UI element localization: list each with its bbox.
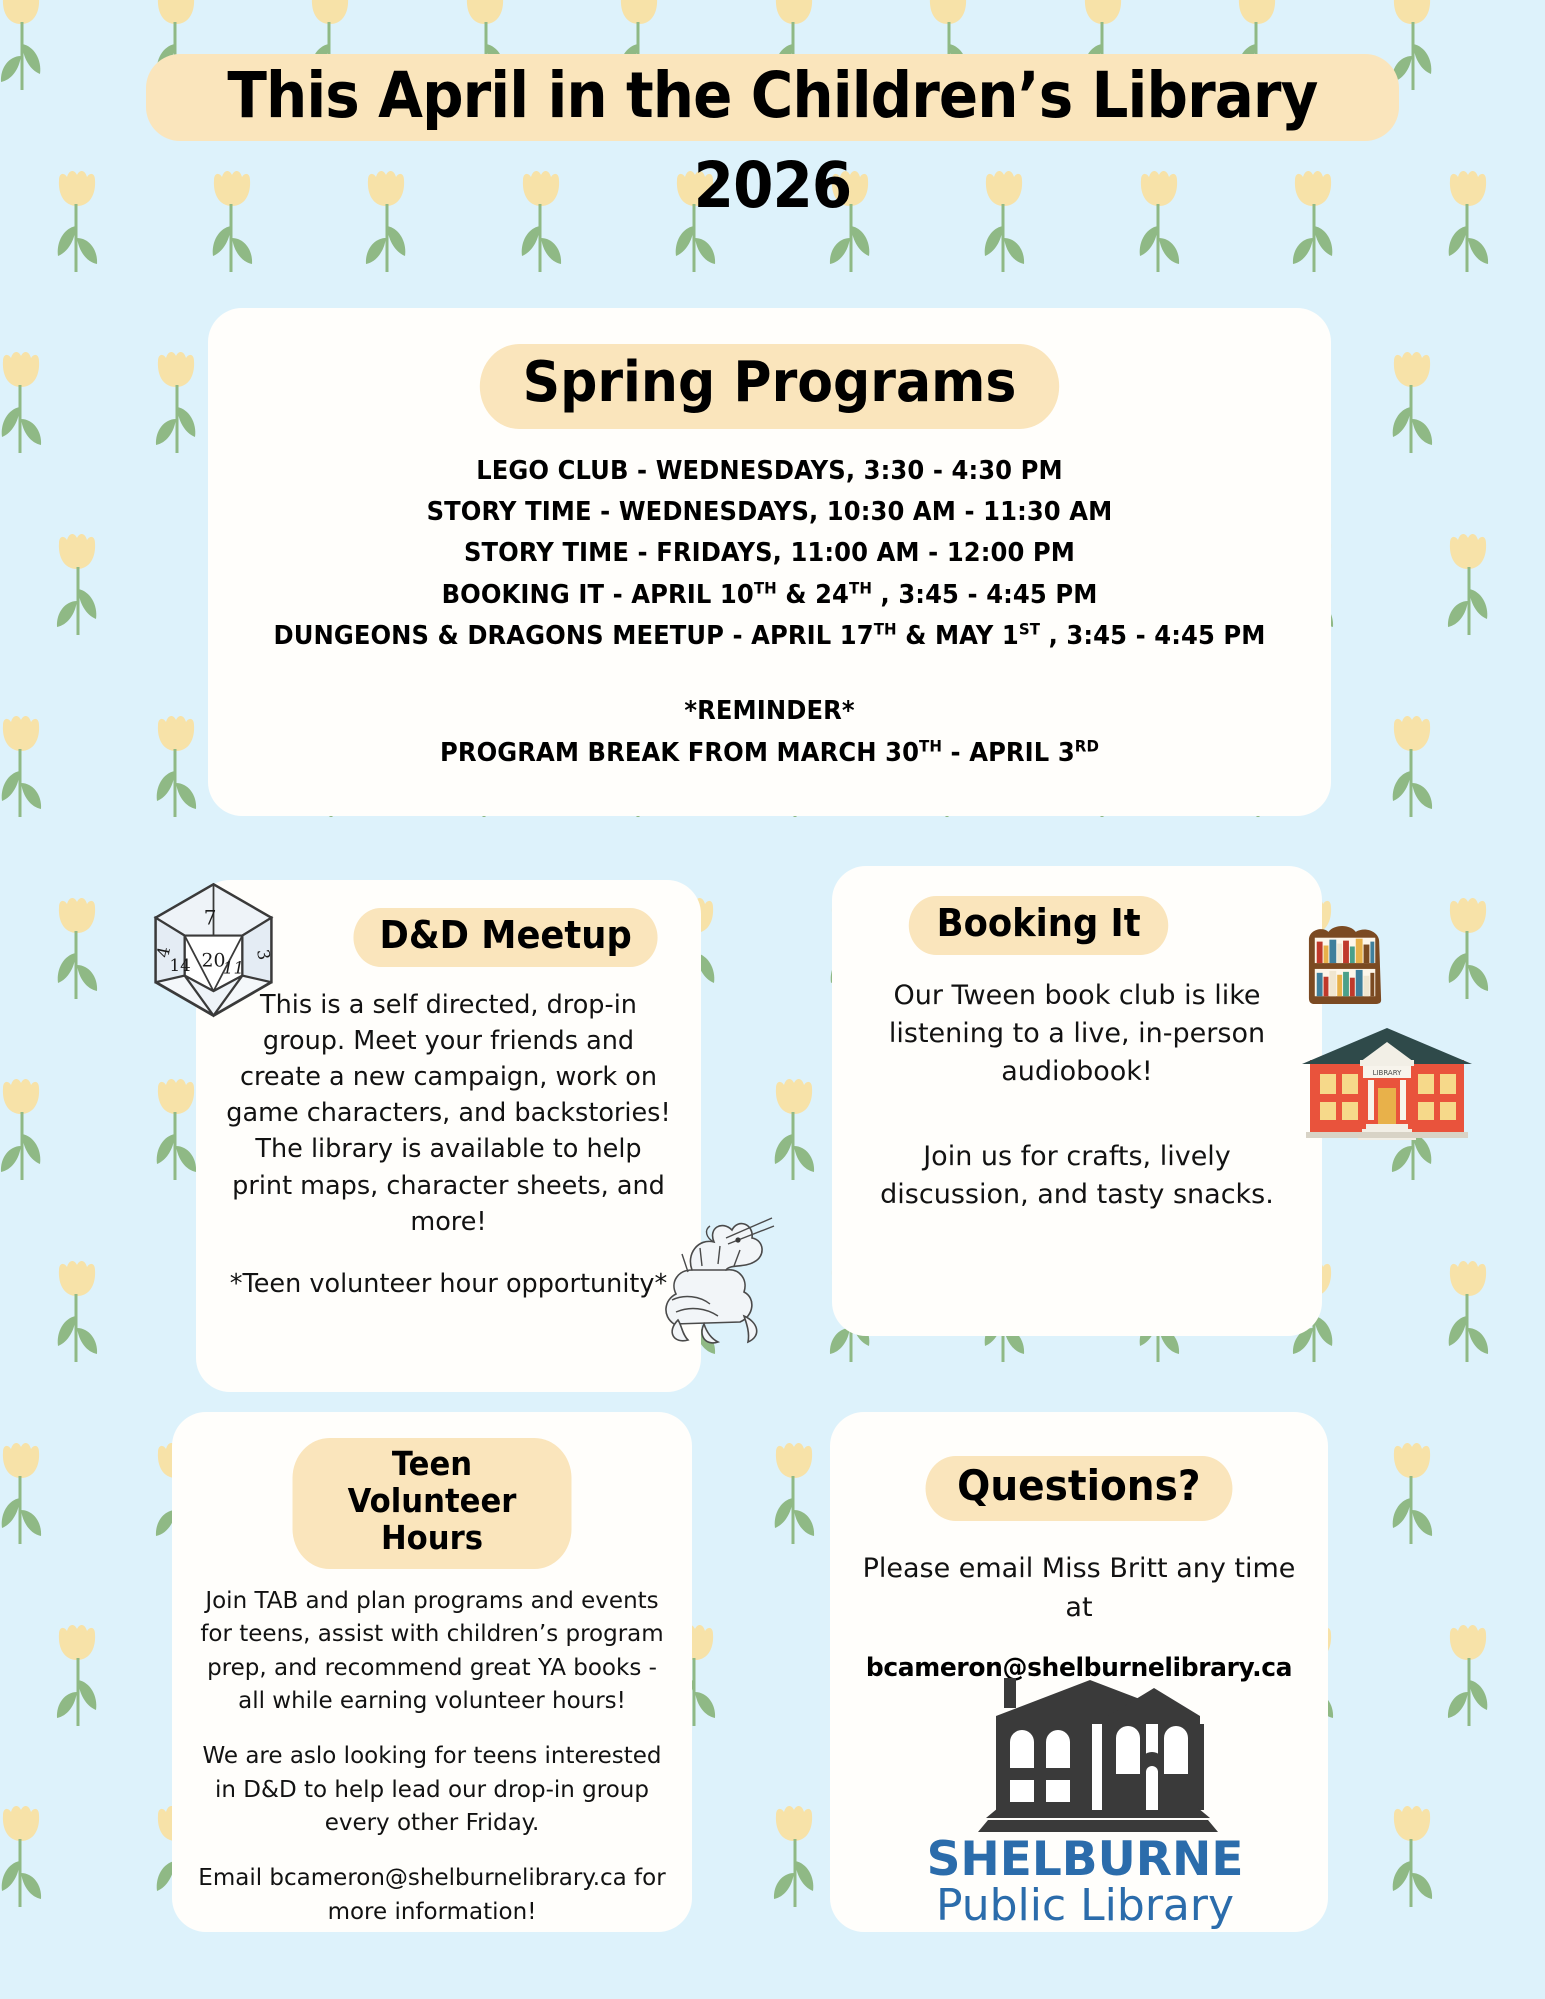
teen-paragraph-1: Join TAB and plan programs and events fo… (196, 1585, 668, 1718)
title-line-2: 2026 (62, 149, 1483, 222)
program-line-text: STORY TIME - WEDNESDAYS, 10:30 AM - 11:3… (427, 497, 1113, 527)
bookshelf-icon (1296, 926, 1396, 1006)
reminder-title: *REMINDER* (236, 691, 1303, 732)
booking-paragraph-2: Join us for crafts, lively discussion, a… (862, 1138, 1292, 1215)
logo-text-shelburne: SHELBURNE (920, 1836, 1250, 1883)
title-line-1: This April in the Children’s Library (227, 64, 1317, 127)
teen-paragraph-2: We are aslo looking for teens interested… (196, 1740, 668, 1840)
teen-heading-line-2: Hours (381, 1518, 483, 1557)
title-highlight: This April in the Children’s Library (146, 54, 1399, 141)
spring-programs-heading-row: Spring Programs (208, 344, 1331, 429)
booking-it-heading-row: Booking It (832, 866, 1322, 955)
reminder-text: PROGRAM BREAK FROM MARCH 30 (440, 738, 919, 768)
questions-heading-row: Questions? (830, 1412, 1328, 1521)
teen-heading-line-1: Teen Volunteer (348, 1444, 517, 1520)
program-line-dnd-meetup: DUNGEONS & DRAGONS MEETUP - APRIL 17TH &… (236, 616, 1303, 657)
program-line-story-time-fridays: STORY TIME - FRIDAYS, 11:00 AM - 12:00 P… (236, 533, 1303, 574)
ordinal-suffix: TH (919, 736, 942, 755)
booking-paragraph-1: Our Tween book club is like listening to… (862, 977, 1292, 1092)
questions-body: Please email Miss Britt any time at (830, 1521, 1328, 1627)
teen-volunteer-body: Join TAB and plan programs and events fo… (172, 1569, 692, 1929)
questions-paragraph: Please email Miss Britt any time at (856, 1549, 1302, 1627)
ordinal-suffix: TH (874, 619, 897, 638)
page-title: This April in the Children’s Library 202… (0, 54, 1545, 222)
logo-text-public-library: Public Library (920, 1883, 1250, 1930)
program-line-booking-it: BOOKING IT - APRIL 10TH & 24TH , 3:45 - … (236, 575, 1303, 616)
booking-it-card: Booking It Our Tween book club is like l… (832, 866, 1322, 1336)
dice-face-14: 14 (170, 956, 191, 975)
teen-volunteer-heading-row: Teen Volunteer Hours (172, 1412, 692, 1569)
booking-it-heading: Booking It (909, 896, 1169, 955)
spring-programs-card: Spring Programs LEGO CLUB - WEDNESDAYS, … (208, 308, 1331, 816)
ordinal-suffix: TH (754, 578, 777, 597)
dice-face-7: 7 (204, 905, 217, 929)
program-line-text: STORY TIME - FRIDAYS, 11:00 AM - 12:00 P… (464, 538, 1075, 568)
ordinal-suffix: RD (1075, 736, 1099, 755)
dnd-volunteer-note: *Teen volunteer hour opportunity* (222, 1266, 675, 1302)
building-sign-text: LIBRARY (1373, 1069, 1403, 1077)
program-line-text-tail: , 3:45 - 4:45 PM (1040, 621, 1265, 651)
program-line-story-time-wednesdays: STORY TIME - WEDNESDAYS, 10:30 AM - 11:3… (236, 492, 1303, 533)
dnd-meetup-heading: D&D Meetup (353, 908, 657, 967)
questions-heading: Questions? (926, 1456, 1233, 1521)
ordinal-suffix: ST (1019, 619, 1040, 638)
spring-programs-heading: Spring Programs (480, 344, 1059, 429)
reminder-text-mid: - APRIL 3 (942, 738, 1075, 768)
d20-dice-icon: 7 20 4 14 11 3 (146, 880, 281, 1020)
dragon-illustration (648, 1216, 778, 1348)
dnd-paragraph-1: This is a self directed, drop-in group. … (222, 987, 675, 1132)
program-line-text-tail: , 3:45 - 4:45 PM (872, 580, 1097, 610)
reminder-detail: PROGRAM BREAK FROM MARCH 30TH - APRIL 3R… (236, 733, 1303, 774)
program-line-text: BOOKING IT - APRIL 10 (442, 580, 754, 610)
library-logo-building-icon (940, 1672, 1230, 1842)
program-line-text-mid: & MAY 1 (897, 621, 1019, 651)
dice-face-11: 11 (223, 958, 244, 977)
spacer (208, 657, 1331, 691)
teen-volunteer-heading: Teen Volunteer Hours (293, 1438, 572, 1569)
program-line-text: LEGO CLUB - WEDNESDAYS, 3:30 - 4:30 PM (476, 456, 1062, 486)
library-building-illustration: LIBRARY (1292, 1024, 1482, 1149)
teen-volunteer-hours-card: Teen Volunteer Hours Join TAB and plan p… (172, 1412, 692, 1932)
dnd-paragraph-2: The library is available to help print m… (222, 1131, 675, 1240)
shelburne-public-library-logo: SHELBURNE Public Library (920, 1672, 1250, 1930)
booking-it-body: Our Tween book club is like listening to… (832, 955, 1322, 1215)
program-line-text-mid: & 24 (777, 580, 849, 610)
program-line-lego-club: LEGO CLUB - WEDNESDAYS, 3:30 - 4:30 PM (236, 451, 1303, 492)
ordinal-suffix: TH (849, 578, 872, 597)
program-schedule-list: LEGO CLUB - WEDNESDAYS, 3:30 - 4:30 PM S… (208, 451, 1331, 774)
teen-paragraph-3: Email bcameron@shelburnelibrary.ca for m… (196, 1862, 668, 1929)
program-line-text: DUNGEONS & DRAGONS MEETUP - APRIL 17 (274, 621, 874, 651)
